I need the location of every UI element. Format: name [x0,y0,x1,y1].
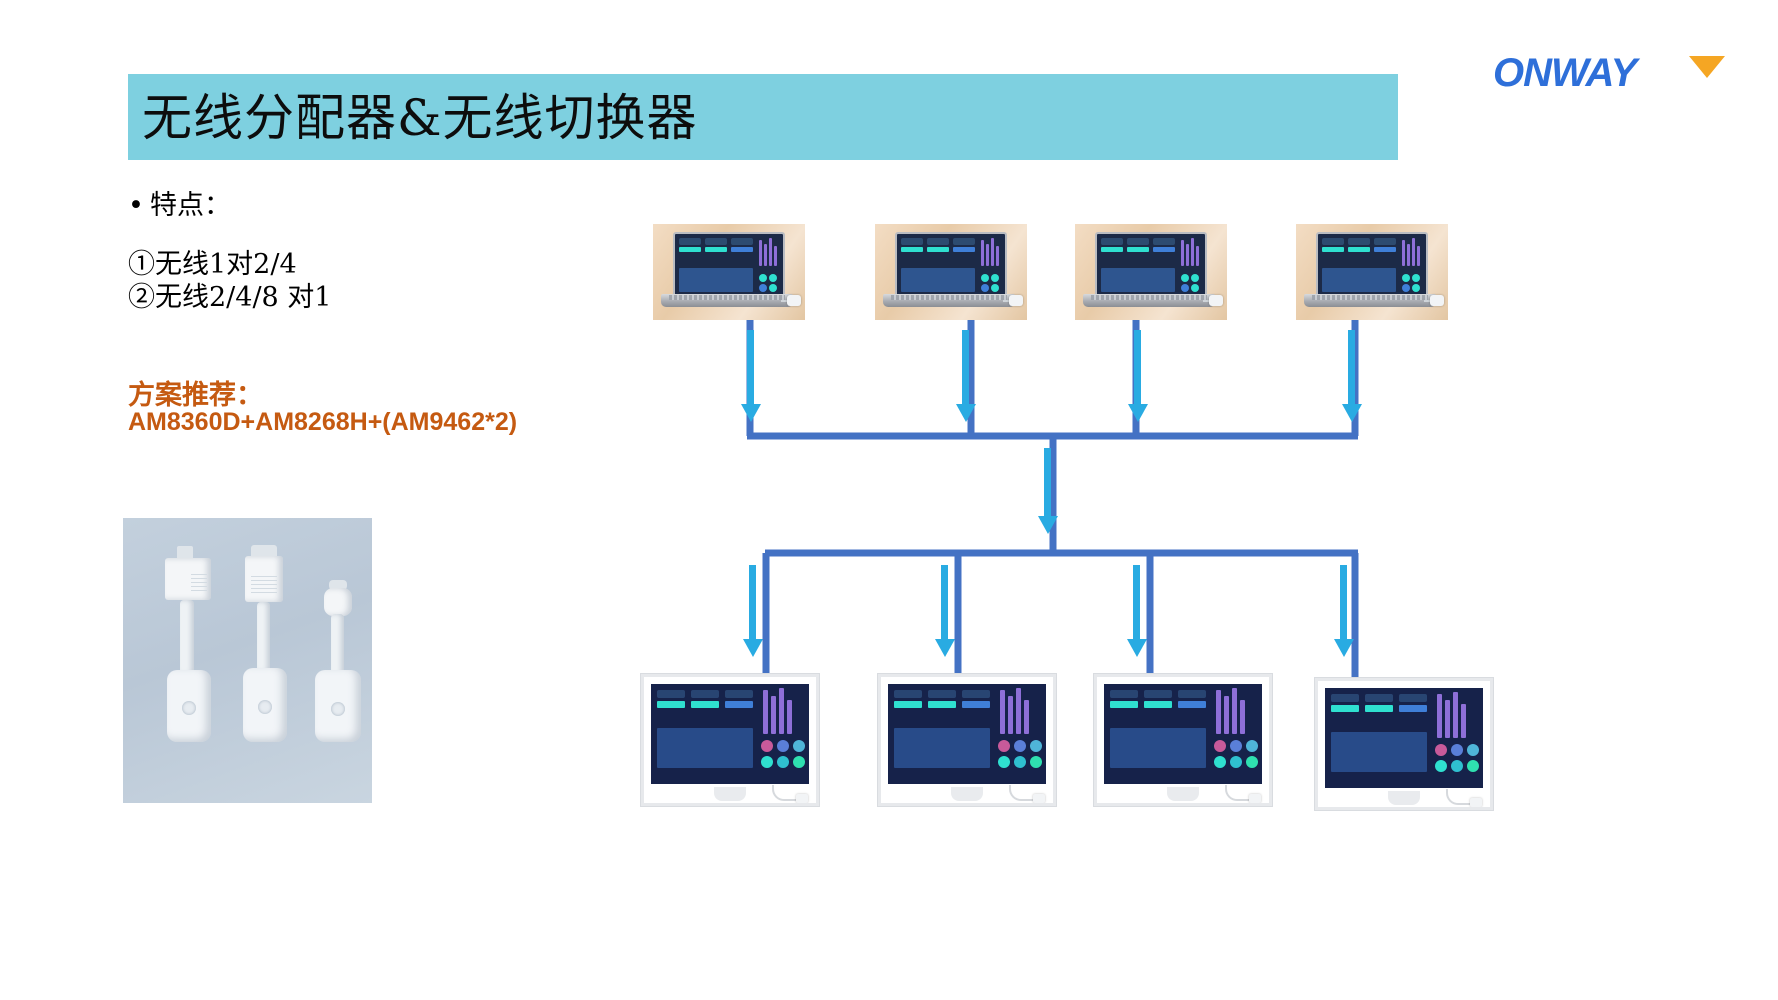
monitor-dongle [1470,798,1482,807]
monitor-stand [1167,787,1199,801]
laptop-screen [1095,232,1207,296]
laptop-dongle [1009,295,1023,306]
monitor-stand [1388,791,1420,805]
monitor-screen [1104,684,1262,784]
laptop-screen [1316,232,1428,296]
source-laptop-3 [1075,224,1227,320]
monitor-stand [714,787,746,801]
display-monitor-1 [641,674,819,806]
display-monitor-2 [878,674,1056,806]
source-laptop-2 [875,224,1027,320]
laptop-keyboard [1312,295,1428,300]
monitor-screen [888,684,1046,784]
laptop-dongle [1430,295,1444,306]
monitor-dongle [1249,794,1261,803]
monitor-dongle [796,794,808,803]
laptop-keyboard [669,295,785,300]
source-laptop-4 [1296,224,1448,320]
laptop-dongle [1209,295,1223,306]
laptop-keyboard [891,295,1007,300]
monitor-screen [651,684,809,784]
laptop-keyboard [1091,295,1207,300]
monitor-dongle [1033,794,1045,803]
laptop-dongle [787,295,801,306]
source-laptop-1 [653,224,805,320]
monitor-stand [951,787,983,801]
monitor-screen [1325,688,1483,788]
topology-diagram [0,0,1778,1000]
display-monitor-4 [1315,678,1493,810]
slide-canvas: ONWAY 无线分配器&无线切换器 •特点： ①无线1对2/4 ②无线2/4/8… [0,0,1778,1000]
laptop-screen [895,232,1007,296]
display-monitor-3 [1094,674,1272,806]
laptop-screen [673,232,785,296]
